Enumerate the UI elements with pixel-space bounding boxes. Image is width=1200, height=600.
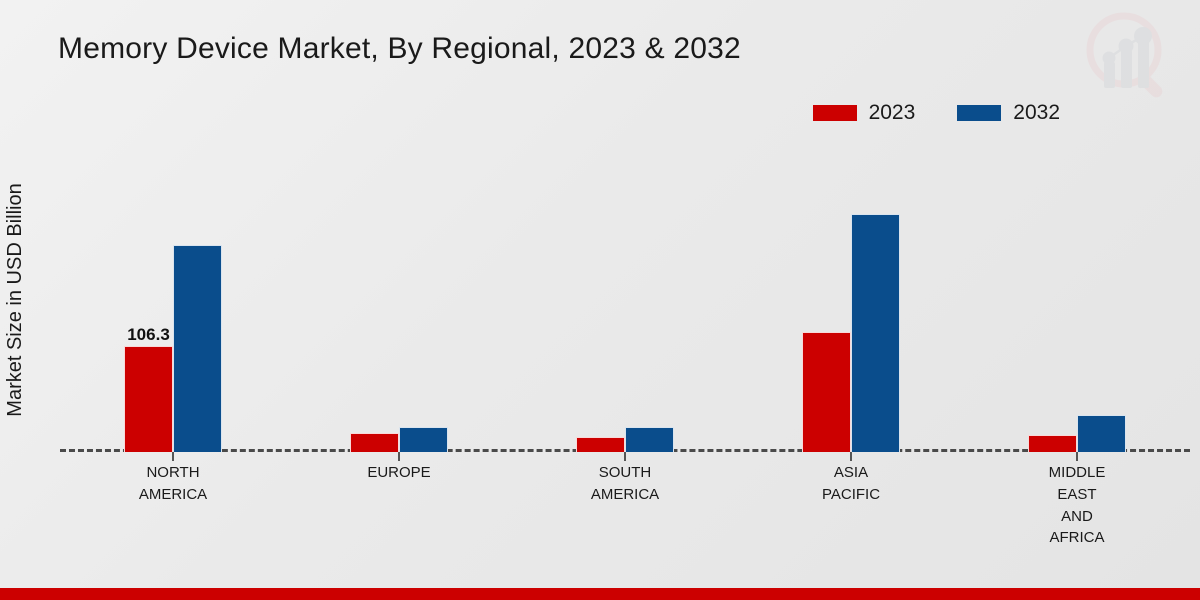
x-axis-category-label: NORTH AMERICA <box>139 462 207 506</box>
x-axis-tick <box>172 452 174 461</box>
bar-pair <box>350 427 448 452</box>
x-axis-category-label: MIDDLE EAST AND AFRICA <box>1049 462 1106 549</box>
legend-item-2023[interactable]: 2023 <box>813 101 916 125</box>
bar-group: ASIA PACIFIC <box>738 150 964 452</box>
page-title: Memory Device Market, By Regional, 2023 … <box>58 32 741 66</box>
plot-area: 106.3NORTH AMERICAEUROPESOUTH AMERICAASI… <box>60 150 1190 452</box>
x-axis-tick <box>624 452 626 461</box>
trend-dots-icon <box>1103 27 1153 65</box>
x-axis-tick <box>398 452 400 461</box>
x-axis-category-label: EUROPE <box>367 462 430 484</box>
bar-2023[interactable] <box>350 433 399 452</box>
bar-group: 106.3NORTH AMERICA <box>60 150 286 452</box>
bar-2032[interactable] <box>851 214 900 452</box>
legend-label-2032: 2032 <box>1013 101 1060 125</box>
bar-2023[interactable]: 106.3 <box>124 346 173 452</box>
x-axis-category-label: SOUTH AMERICA <box>591 462 659 506</box>
bar-groups: 106.3NORTH AMERICAEUROPESOUTH AMERICAASI… <box>60 150 1190 452</box>
bar-2032[interactable] <box>625 427 674 452</box>
bar-2023[interactable] <box>576 437 625 452</box>
watermark-logo <box>1078 6 1182 110</box>
legend-swatch-2032 <box>957 105 1001 121</box>
bar-value-label: 106.3 <box>127 325 170 345</box>
bar-2023[interactable] <box>1028 435 1077 452</box>
bar-pair: 106.3 <box>124 245 222 452</box>
bar-pair <box>1028 415 1126 452</box>
bar-chart-icon <box>1104 40 1149 88</box>
y-axis-label: Market Size in USD Billion <box>4 183 27 416</box>
legend-item-2032[interactable]: 2032 <box>957 101 1060 125</box>
bar-2032[interactable] <box>173 245 222 452</box>
footer-accent-bar <box>0 588 1200 600</box>
bar-group: MIDDLE EAST AND AFRICA <box>964 150 1190 452</box>
chart-legend: 2023 2032 <box>813 101 1060 125</box>
magnifier-icon <box>1090 16 1165 100</box>
x-axis-category-label: ASIA PACIFIC <box>822 462 880 506</box>
x-axis-tick <box>850 452 852 461</box>
legend-swatch-2023 <box>813 105 857 121</box>
bar-2032[interactable] <box>1077 415 1126 452</box>
bar-group: SOUTH AMERICA <box>512 150 738 452</box>
legend-label-2023: 2023 <box>869 101 916 125</box>
bar-pair <box>576 427 674 452</box>
x-axis-tick <box>1076 452 1078 461</box>
bar-pair <box>802 214 900 452</box>
bar-2032[interactable] <box>399 427 448 452</box>
bar-group: EUROPE <box>286 150 512 452</box>
bar-2023[interactable] <box>802 332 851 452</box>
